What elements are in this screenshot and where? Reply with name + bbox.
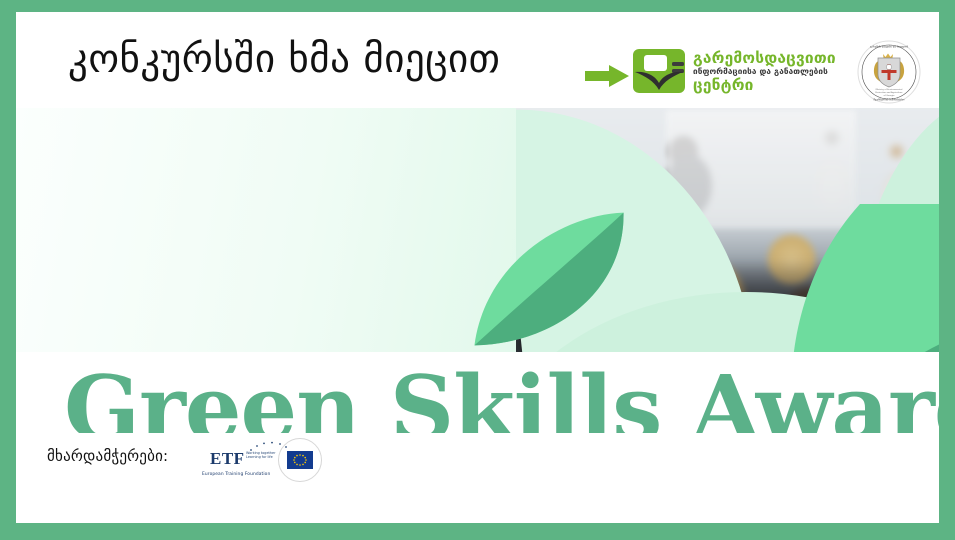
- supporters-label: მხარდამჭერები:: [47, 447, 168, 465]
- logo-line-2: ინფორმაციისა და განათლების: [693, 66, 836, 77]
- poster-frame: კონკურსში ხმა მიეცით გარემოსდაცვითი ინფო…: [0, 0, 955, 540]
- arrow-right-icon: [585, 65, 629, 87]
- footer: მხარდამჭერები: ETF Working together Lear…: [16, 433, 939, 523]
- svg-text:of Georgia: of Georgia: [884, 94, 896, 97]
- header: კონკურსში ხმა მიეცით გარემოსდაცვითი ინფო…: [16, 12, 939, 108]
- svg-text:Ministry of Environmental: Ministry of Environmental: [876, 88, 903, 91]
- european-union-flag-icon: [278, 438, 322, 482]
- logo-line-1: გარემოსდაცვითი: [693, 50, 836, 66]
- poster-card: კონკურსში ხმა მიეცით გარემოსდაცვითი ინფო…: [16, 12, 939, 523]
- logo-line-3: ცენტრი: [693, 77, 836, 93]
- organization-logo-text: გარემოსდაცვითი ინფორმაციისა და განათლები…: [693, 50, 836, 93]
- eu-flag-rect: [287, 451, 313, 469]
- headline-text: კონკურსში ხმა მიეცით: [68, 38, 500, 82]
- svg-text:გარემოს დაცვისა და სოფლის: გარემოს დაცვისა და სოფლის: [870, 45, 909, 49]
- book-leaf-logo-icon: [631, 45, 687, 97]
- georgia-coat-of-arms-icon: გარემოს დაცვისა და სოფლის მეურნეობის სამ…: [857, 40, 921, 104]
- svg-text:Protection and Agriculture: Protection and Agriculture: [875, 91, 903, 94]
- leaf-decoration-icon: [786, 204, 939, 352]
- leaf-decoration-icon: [464, 211, 634, 348]
- eu-stars-icon: [287, 451, 313, 469]
- organization-logo: გარემოსდაცვითი ინფორმაციისა და განათლები…: [631, 45, 836, 97]
- etf-wordmark: ETF: [210, 450, 245, 467]
- svg-text:მეურნეობის სამინისტრო: მეურნეობის სამინისტრო: [874, 98, 905, 102]
- etf-subtitle: European Training Foundation: [202, 472, 294, 477]
- banner-band: [16, 108, 939, 352]
